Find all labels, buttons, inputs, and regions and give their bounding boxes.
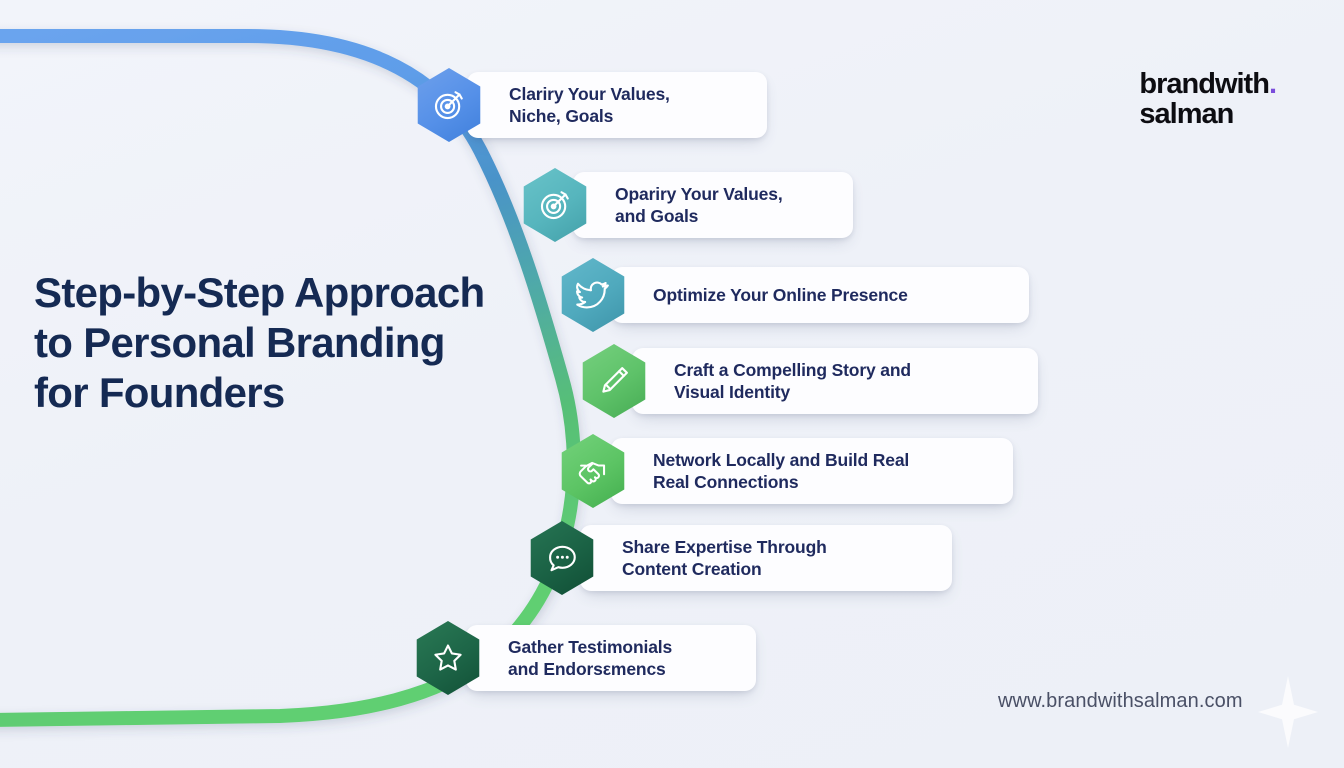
step-item-6[interactable]: Share Expertise Through Content Creation [528, 521, 952, 595]
target-icon [538, 188, 572, 222]
step-7-label: Gather Testimonials and Endorsεmencs [508, 636, 672, 681]
step-4-card[interactable]: Craft a Compelling Story and Visual Iden… [632, 348, 1038, 415]
step-1-card[interactable]: Clariry Your Values, Niche, Goals [467, 72, 767, 139]
logo-line-2: salman [1139, 100, 1276, 130]
step-3-card[interactable]: Optimize Your Online Presence [611, 267, 1029, 323]
step-5-label: Network Locally and Build Real Real Conn… [653, 449, 909, 494]
step-5-card[interactable]: Network Locally and Build Real Real Conn… [611, 438, 1013, 505]
step-1-label: Clariry Your Values, Niche, Goals [509, 83, 670, 128]
step-item-4[interactable]: Craft a Compelling Story and Visual Iden… [580, 344, 1038, 418]
chat-bubble-icon [545, 541, 579, 575]
page-title: Step-by-Step Approach to Personal Brandi… [34, 268, 564, 417]
step-2-card[interactable]: Opariry Your Values, and Goals [573, 172, 853, 239]
step-item-5[interactable]: Network Locally and Build Real Real Conn… [559, 434, 1013, 508]
target-icon [432, 88, 466, 122]
step-6-card[interactable]: Share Expertise Through Content Creation [580, 525, 952, 592]
pencil-icon [597, 364, 631, 398]
step-item-3[interactable]: Optimize Your Online Presence [559, 258, 1029, 332]
website-url: www.brandwithsalman.com [998, 690, 1243, 713]
step-6-label: Share Expertise Through Content Creation [622, 536, 827, 581]
step-7-card[interactable]: Gather Testimonials and Endorsεmencs [466, 625, 756, 692]
infographic-canvas: Step-by-Step Approach to Personal Brandi… [0, 0, 1344, 768]
bird-icon [576, 278, 610, 312]
step-2-label: Opariry Your Values, and Goals [615, 183, 783, 228]
step-4-label: Craft a Compelling Story and Visual Iden… [674, 359, 911, 404]
handshake-icon [576, 454, 610, 488]
step-item-1[interactable]: Clariry Your Values, Niche, Goals [415, 68, 767, 142]
step-item-7[interactable]: Gather Testimonials and Endorsεmencs [414, 621, 756, 695]
logo-line-1: brandwith. [1139, 70, 1276, 100]
step-3-label: Optimize Your Online Presence [653, 284, 908, 306]
star-icon [431, 641, 465, 675]
step-item-2[interactable]: Opariry Your Values, and Goals [521, 168, 853, 242]
brand-logo: brandwith. salman [1139, 70, 1276, 130]
logo-dot: . [1269, 68, 1276, 100]
